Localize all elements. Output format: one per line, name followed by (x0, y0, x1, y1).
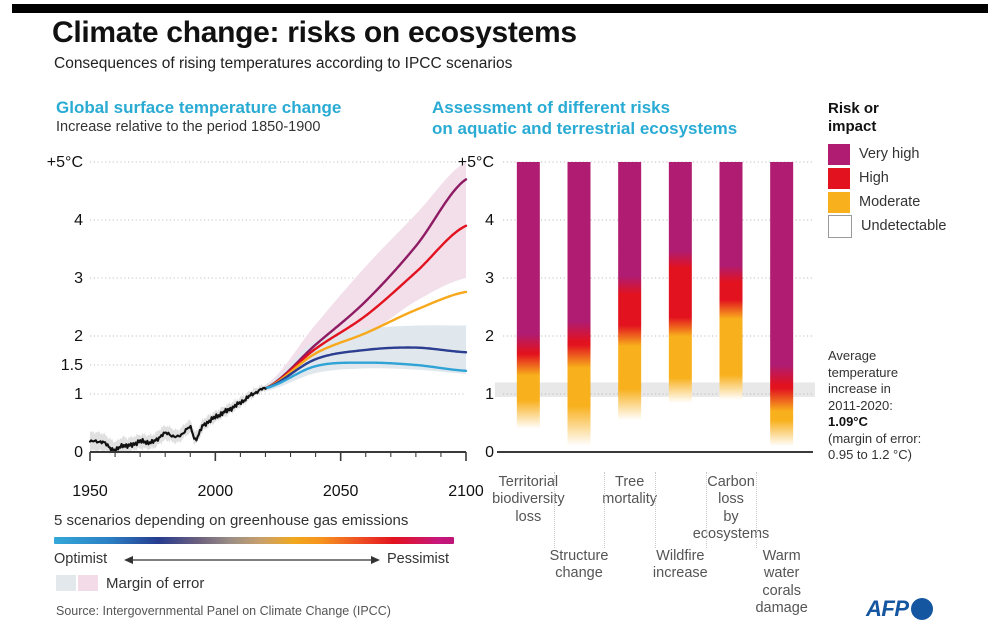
y-axis-tick-label: 1 (74, 386, 83, 403)
category-separator (706, 472, 707, 548)
risk-legend-label: Undetectable (861, 218, 946, 234)
risk-category-label: Warmwatercoralsdamage (730, 548, 834, 618)
annotation-line-1: Average (828, 348, 996, 365)
margin-of-error-swatch-blue (56, 575, 76, 591)
risk-bar-chart: 01234+5°C (455, 150, 815, 480)
average-temperature-band (495, 382, 815, 397)
margin-of-error-label: Margin of error (106, 575, 204, 592)
y-axis-tick-label: +5°C (458, 154, 494, 171)
risk-category-label-line: damage (730, 600, 834, 617)
page-subtitle: Consequences of rising temperatures acco… (54, 55, 512, 73)
risk-legend-label: Very high (859, 146, 919, 162)
temperature-line-chart: 011.5234+5°C (44, 150, 474, 480)
annotation-line-2: temperature (828, 365, 996, 382)
risk-legend-item: High (828, 166, 998, 190)
right-panel-title-line2: on aquatic and terrestrial ecosystems (432, 119, 832, 140)
annotation-line-3: increase in (828, 381, 996, 398)
risk-category-label-line: Carbon (679, 474, 783, 491)
x-axis-tick-label: 1950 (60, 483, 120, 501)
y-axis-tick-label: +5°C (47, 154, 83, 171)
y-axis-tick-label: 3 (485, 270, 494, 287)
page-title: Climate change: risks on ecosystems (52, 16, 577, 50)
risk-legend-item: Undetectable (828, 214, 998, 238)
y-axis-tick-label: 2 (74, 328, 83, 345)
scenario-gradient-bar (54, 537, 454, 544)
risk-category-label-line: mortality (578, 491, 682, 508)
risk-bar (568, 162, 591, 449)
risk-category-label: Wildfireincrease (628, 548, 732, 583)
risk-bar (770, 162, 793, 446)
category-separator (554, 472, 555, 548)
margin-of-error-swatch-pink (78, 575, 98, 591)
risk-bar (517, 162, 540, 429)
y-axis-tick-label: 4 (74, 212, 83, 229)
y-axis-tick-label: 1.5 (61, 357, 83, 374)
category-separator (655, 472, 656, 548)
y-axis-tick-label: 0 (485, 444, 494, 461)
y-axis-tick-label: 0 (74, 444, 83, 461)
risk-legend-swatch (828, 144, 850, 165)
risk-legend-swatch (828, 215, 852, 238)
risk-legend-list: Very highHighModerateUndetectable (828, 142, 998, 238)
risk-category-label-line: Tree (578, 474, 682, 491)
left-chart-x-axis-labels: 1950200020502100 (44, 483, 474, 505)
y-axis-tick-label: 1 (485, 386, 494, 403)
scale-arrow-icon (124, 553, 380, 567)
annotation-value: 1.09°C (828, 414, 868, 429)
y-axis-tick-label: 3 (74, 270, 83, 287)
risk-category-label: Treemortality (578, 474, 682, 509)
risk-category-label-line: Wildfire (628, 548, 732, 565)
scale-label-optimist: Optimist (54, 551, 107, 567)
x-axis-tick-label: 2050 (311, 483, 371, 501)
risk-legend-swatch (828, 192, 850, 213)
risk-legend-item: Moderate (828, 190, 998, 214)
risk-category-label-line: increase (628, 565, 732, 582)
scale-label-pessimist: Pessimist (387, 551, 449, 567)
risk-category-label: Structurechange (527, 548, 631, 583)
risk-category-label-line: corals (730, 583, 834, 600)
risk-category-label-line: loss (476, 509, 580, 526)
risk-legend-item: Very high (828, 142, 998, 166)
observed-margin-band (90, 384, 265, 455)
y-axis-tick-label: 2 (485, 328, 494, 345)
risk-category-label-line: loss (679, 491, 783, 508)
y-axis-tick-label: 4 (485, 212, 494, 229)
category-separator (756, 472, 757, 548)
right-chart-svg: 01234+5°C (455, 150, 815, 480)
risk-legend-heading-line1: Risk or (828, 100, 879, 118)
risk-category-label: Carbonlossbyecosystems (679, 474, 783, 544)
risk-category-labels: TerritorialbiodiversitylossStructurechan… (455, 470, 825, 630)
risk-category-label-line: by (679, 509, 783, 526)
right-panel-title-line1: Assessment of different risks (432, 98, 832, 119)
source-note: Source: Intergovernmental Panel on Clima… (56, 604, 391, 618)
risk-category-label-line: water (730, 565, 834, 582)
annotation-line-5: (margin of error: (828, 431, 996, 448)
category-separator (604, 472, 605, 548)
top-rule (12, 4, 988, 13)
risk-category-label-line: biodiversity (476, 491, 580, 508)
scenario-note: 5 scenarios depending on greenhouse gas … (54, 512, 408, 529)
left-panel-title: Global surface temperature change (56, 98, 456, 119)
afp-logo-dot-icon (911, 598, 933, 620)
risk-legend-heading-line2: impact (828, 118, 876, 136)
risk-category-label-line: Warm (730, 548, 834, 565)
risk-category-label-line: Territorial (476, 474, 580, 491)
risk-bar (618, 162, 641, 420)
risk-bar (720, 162, 743, 400)
risk-category-label-line: ecosystems (679, 526, 783, 543)
left-panel-subtitle: Increase relative to the period 1850-190… (56, 119, 456, 135)
average-temperature-annotation: Average temperature increase in 2011-202… (828, 348, 996, 464)
afp-logo: AFP (866, 596, 933, 622)
x-axis-tick-label: 2000 (185, 483, 245, 501)
annotation-line-6: 0.95 to 1.2 °C) (828, 447, 996, 464)
annotation-line-4: 2011-2020: (828, 398, 996, 415)
risk-legend-swatch (828, 168, 850, 189)
risk-category-label-line: change (527, 565, 631, 582)
afp-logo-text: AFP (866, 596, 909, 622)
risk-bar (669, 162, 692, 403)
left-chart-svg: 011.5234+5°C (44, 150, 474, 480)
risk-legend-label: Moderate (859, 194, 920, 210)
risk-category-label: Territorialbiodiversityloss (476, 474, 580, 526)
optimist-margin-band (265, 325, 466, 391)
risk-legend-label: High (859, 170, 889, 186)
risk-category-label-line: Structure (527, 548, 631, 565)
